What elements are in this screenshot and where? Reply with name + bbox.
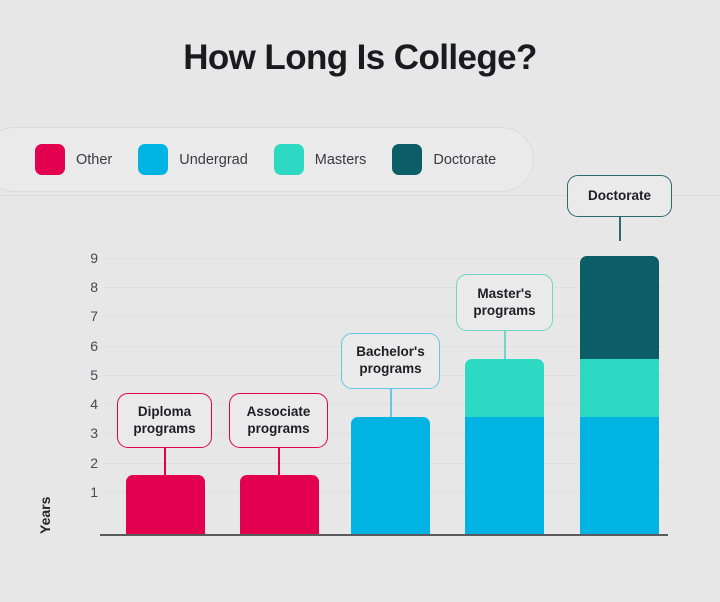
callout-associate-line2: programs bbox=[247, 421, 309, 436]
callout-bachelors-line2: programs bbox=[359, 361, 421, 376]
y-tick-7: 7 bbox=[80, 308, 98, 324]
callout-diploma[interactable]: Diploma programs bbox=[117, 393, 212, 448]
y-tick-6: 6 bbox=[80, 338, 98, 354]
callout-leader-associate bbox=[278, 446, 280, 475]
callout-diploma-line1: Diploma bbox=[138, 404, 191, 419]
bar-segment-undergrad bbox=[351, 417, 430, 534]
callout-leader-doctorate bbox=[619, 217, 621, 241]
callout-masters[interactable]: Master's programs bbox=[456, 274, 553, 331]
callout-bachelors[interactable]: Bachelor's programs bbox=[341, 333, 440, 389]
y-tick-3: 3 bbox=[80, 425, 98, 441]
bar-diploma[interactable] bbox=[126, 475, 205, 534]
legend-item-masters[interactable]: Masters bbox=[274, 144, 367, 175]
bar-masters[interactable] bbox=[465, 359, 544, 534]
legend-swatch-doctorate bbox=[392, 144, 422, 175]
page-title: How Long Is College? bbox=[183, 38, 537, 78]
legend-label-masters: Masters bbox=[315, 152, 367, 168]
title-bar: How Long Is College? bbox=[0, 0, 720, 116]
bar-segment-undergrad bbox=[580, 417, 659, 534]
legend-label-doctorate: Doctorate bbox=[433, 152, 496, 168]
y-tick-4: 4 bbox=[80, 396, 98, 412]
bar-segment-masters bbox=[465, 359, 544, 417]
callout-associate[interactable]: Associate programs bbox=[229, 393, 328, 448]
y-tick-5: 5 bbox=[80, 367, 98, 383]
callout-diploma-line2: programs bbox=[133, 421, 195, 436]
callout-doctorate-line1: Doctorate bbox=[588, 188, 651, 205]
legend-swatch-undergrad bbox=[138, 144, 168, 175]
x-axis-line bbox=[100, 534, 668, 536]
chart-legend: Other Undergrad Masters Doctorate bbox=[0, 127, 534, 192]
legend-swatch-masters bbox=[274, 144, 304, 175]
bar-bachelors[interactable] bbox=[351, 417, 430, 534]
y-tick-8: 8 bbox=[80, 279, 98, 295]
callout-leader-bachelors bbox=[390, 388, 392, 417]
legend-label-other: Other bbox=[76, 152, 112, 168]
legend-item-undergrad[interactable]: Undergrad bbox=[138, 144, 248, 175]
bar-segment-doctorate bbox=[580, 256, 659, 359]
bar-segment-masters bbox=[580, 359, 659, 417]
bar-segment-other bbox=[126, 475, 205, 534]
legend-item-doctorate[interactable]: Doctorate bbox=[392, 144, 496, 175]
y-tick-2: 2 bbox=[80, 455, 98, 471]
y-tick-1: 1 bbox=[80, 484, 98, 500]
y-tick-9: 9 bbox=[80, 250, 98, 266]
callout-bachelors-line1: Bachelor's bbox=[356, 344, 425, 359]
bar-segment-other bbox=[240, 475, 319, 534]
y-axis-title: Years bbox=[37, 497, 53, 534]
legend-item-other[interactable]: Other bbox=[35, 144, 112, 175]
callout-leader-masters bbox=[504, 330, 506, 359]
bar-doctorate[interactable] bbox=[580, 256, 659, 534]
legend-swatch-other bbox=[35, 144, 65, 175]
callout-leader-diploma bbox=[164, 446, 166, 475]
bar-associate[interactable] bbox=[240, 475, 319, 534]
bar-segment-undergrad bbox=[465, 417, 544, 534]
callout-masters-line1: Master's bbox=[477, 286, 531, 301]
callout-associate-line1: Associate bbox=[247, 404, 311, 419]
callout-doctorate[interactable]: Doctorate bbox=[567, 175, 672, 217]
chart-plot-area: Years 9 8 7 6 5 4 3 2 1 D bbox=[0, 196, 720, 602]
legend-label-undergrad: Undergrad bbox=[179, 152, 248, 168]
callout-masters-line2: programs bbox=[473, 303, 535, 318]
